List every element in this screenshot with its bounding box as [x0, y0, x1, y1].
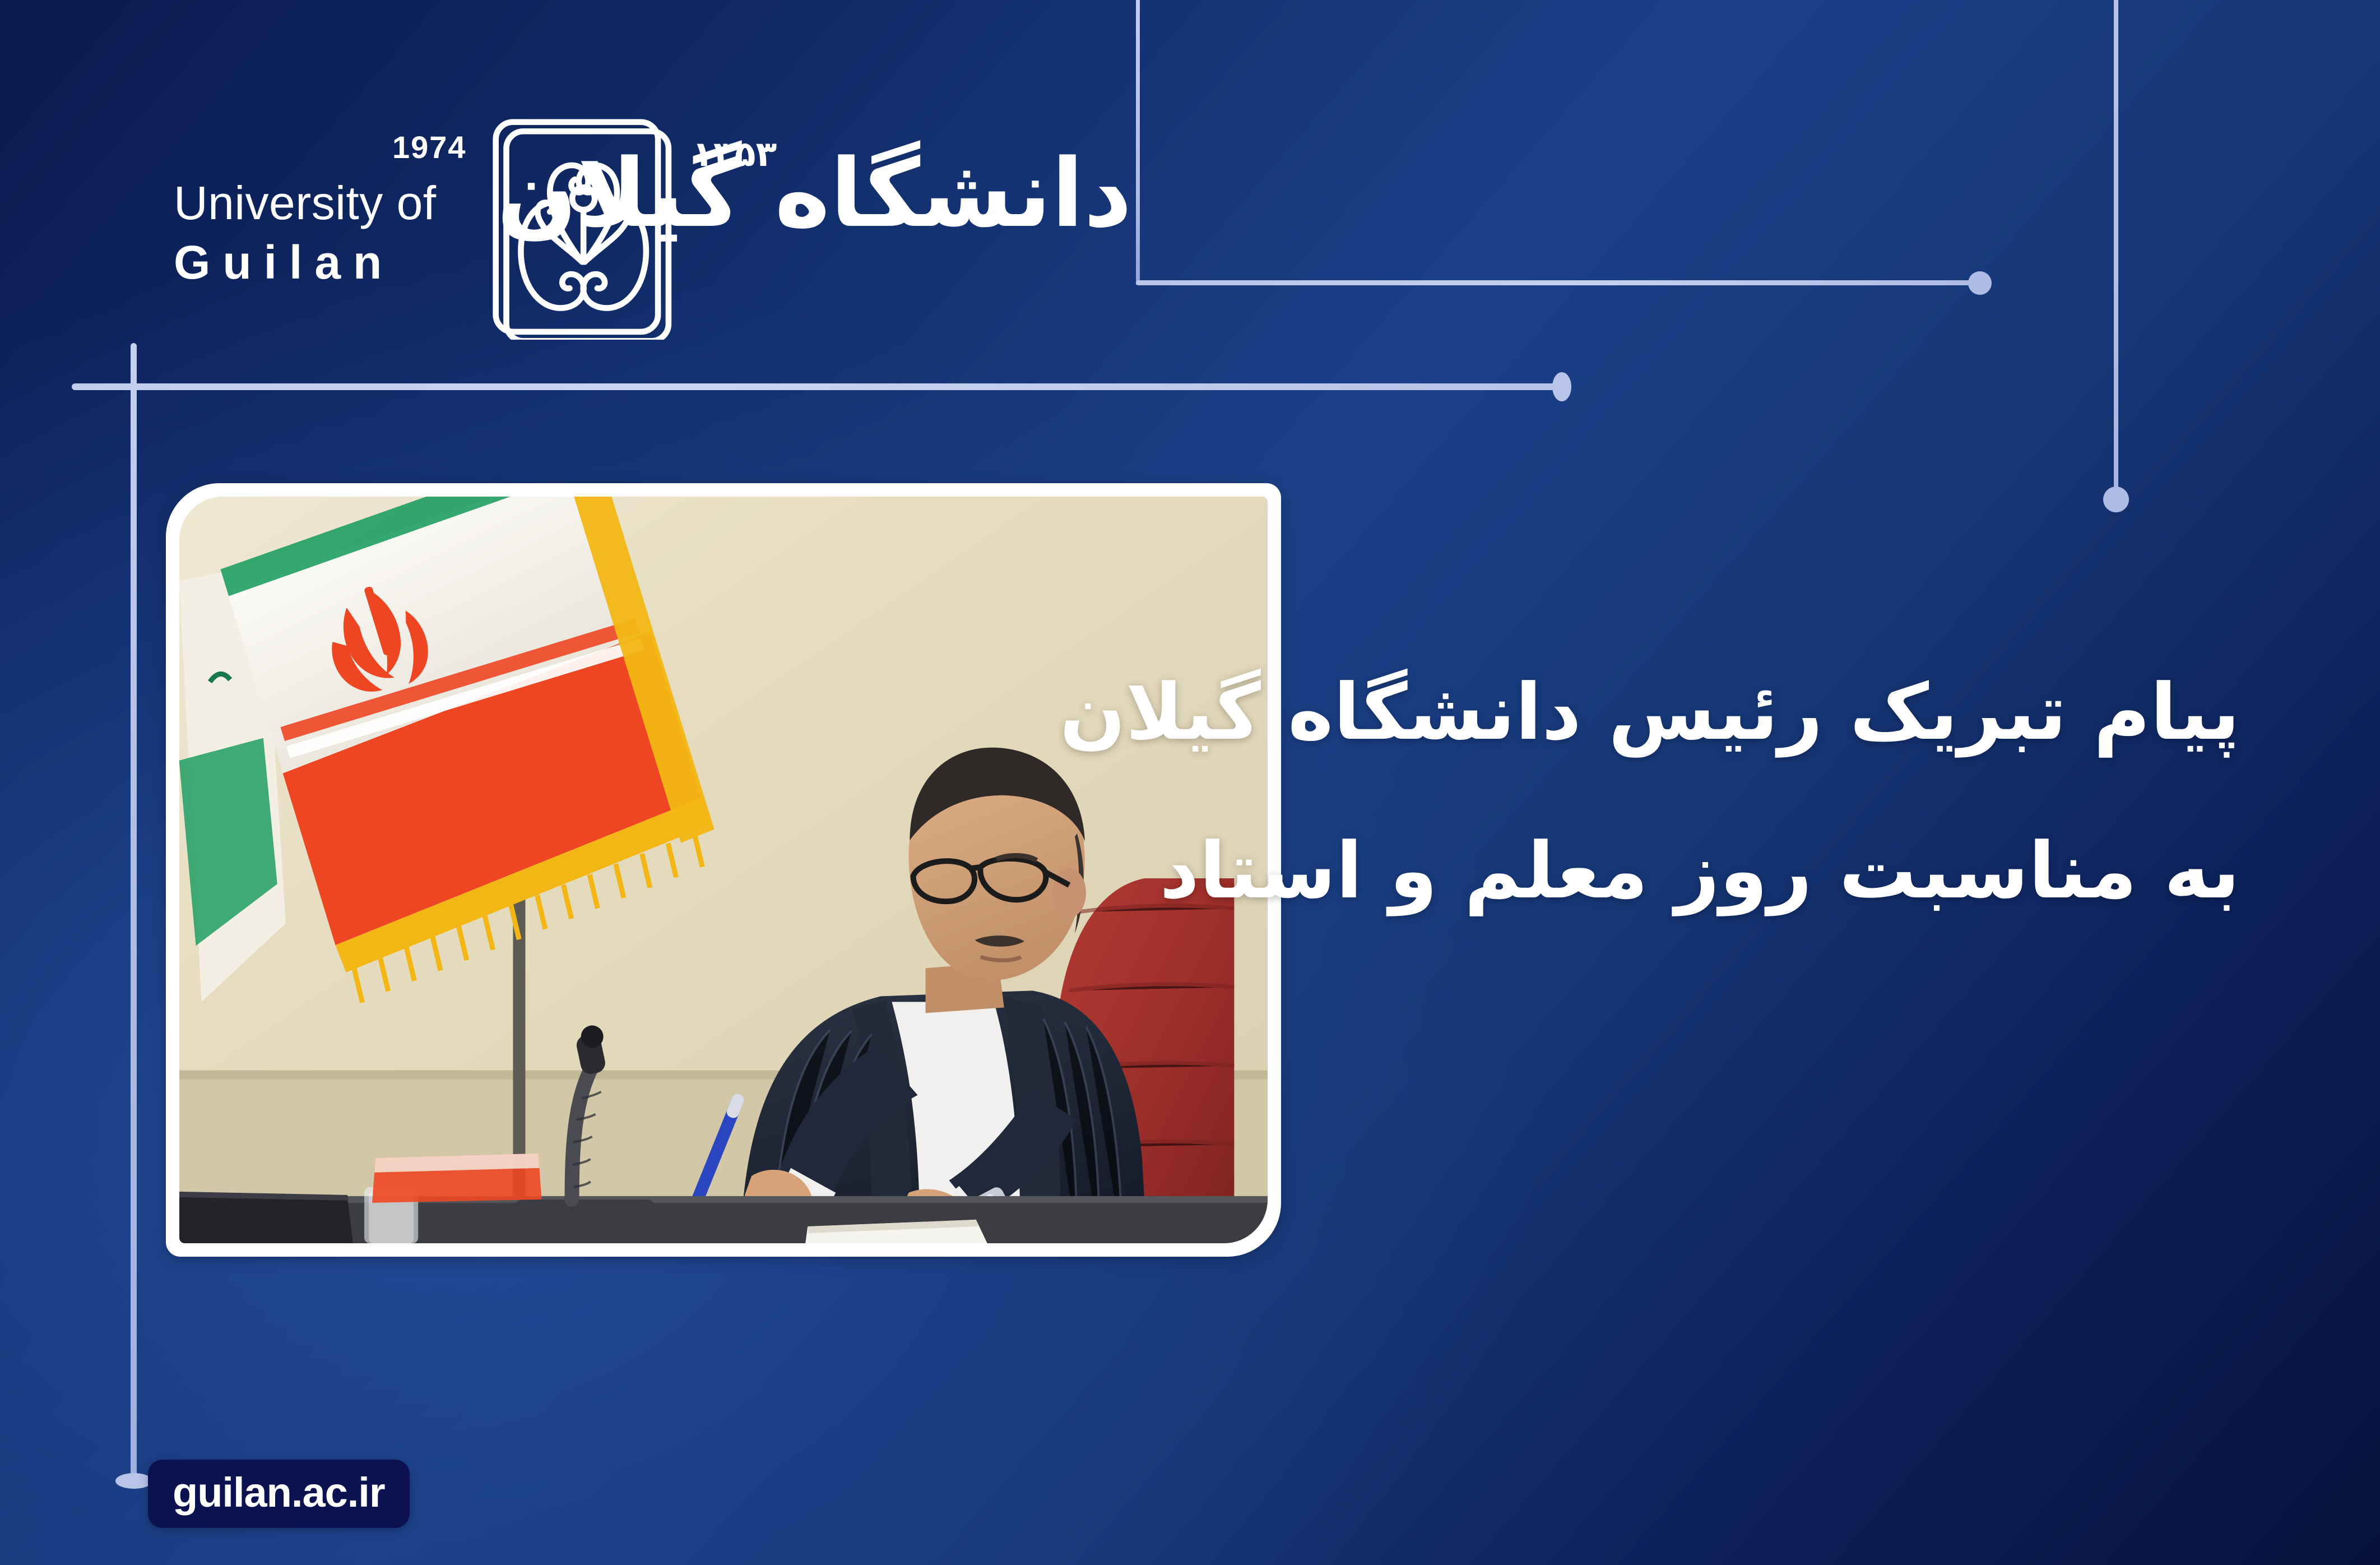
headline-line-1: پیام تبریک رئیس دانشگاه گیلان	[1119, 633, 2240, 792]
logo-year-gregorian: 1974	[392, 129, 467, 165]
decor-dot-top-right	[1968, 271, 1992, 295]
headline: پیام تبریک رئیس دانشگاه گیلان به مناسبت …	[1119, 633, 2240, 951]
headline-line-2: به مناسبت روز معلم و استاد	[1119, 792, 2240, 951]
photo-card	[166, 483, 1281, 1257]
decor-dot-right	[2103, 487, 2129, 512]
decor-vertical-line-left	[131, 343, 137, 1484]
logo-english-line1: University of	[174, 179, 482, 226]
decor-vertical-line-right	[2114, 0, 2118, 491]
decor-horizontal-line-under-logo	[72, 383, 1566, 390]
logo-persian-name: دانشگاه گیلان	[684, 135, 1132, 252]
decor-dot-bottom-left	[115, 1473, 152, 1489]
poster-canvas: 1974 University of Guilan	[0, 0, 2380, 1565]
logo-english-line2: Guilan	[174, 239, 482, 286]
decor-horizontal-line-top-right	[1136, 280, 1977, 285]
website-url-badge[interactable]: guilan.ac.ir	[148, 1460, 410, 1528]
president-writing-photo	[179, 497, 1268, 1243]
decor-vertical-line-top-right	[1136, 0, 1140, 285]
decor-dot-under-logo	[1552, 372, 1571, 401]
logo-english-name: University of Guilan	[174, 179, 482, 286]
university-logo-lockup: 1974 University of Guilan	[168, 118, 1132, 342]
